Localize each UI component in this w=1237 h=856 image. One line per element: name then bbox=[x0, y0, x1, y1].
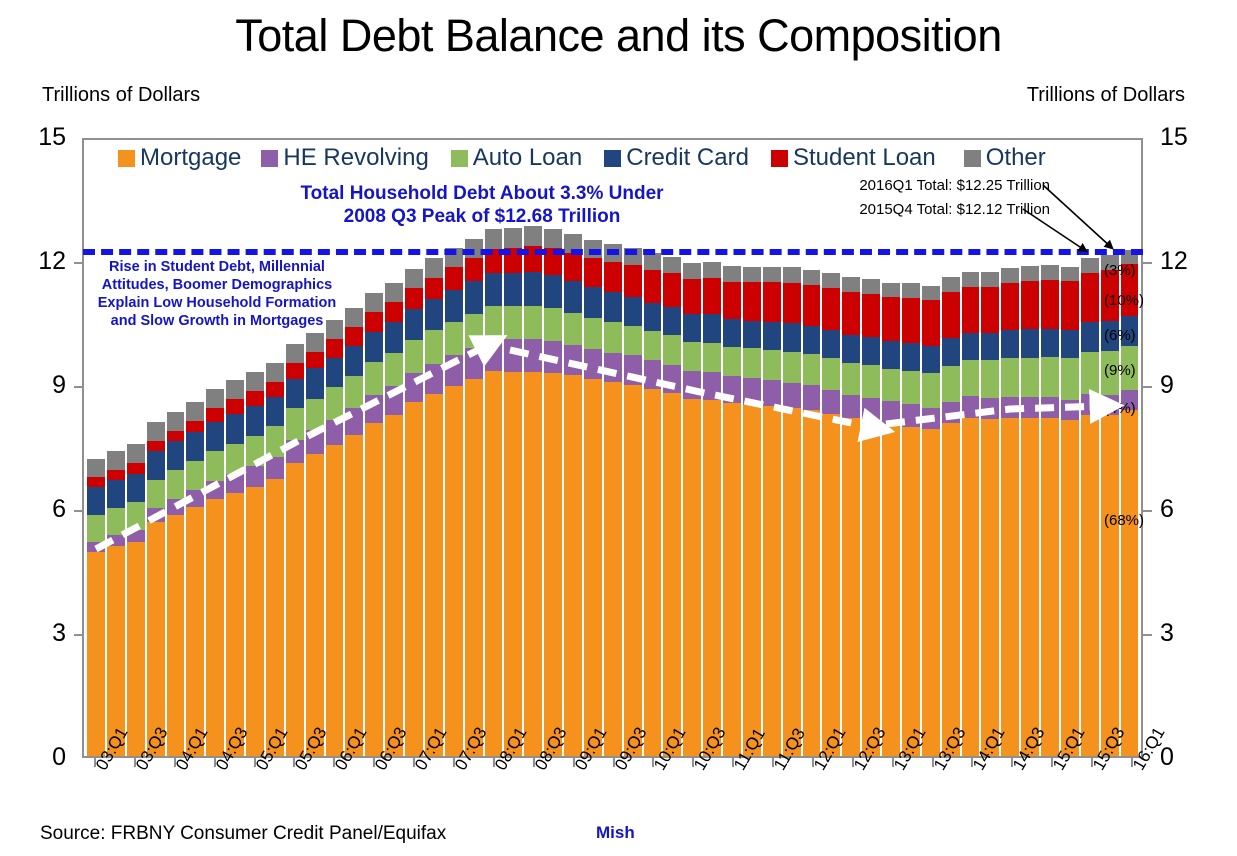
segment-student-loan bbox=[1081, 273, 1099, 323]
y-tick-right-9: 9 bbox=[1160, 373, 1210, 398]
y-tick-left-0: 0 bbox=[0, 745, 66, 770]
chart-legend: MortgageHE RevolvingAuto LoanCredit Card… bbox=[118, 144, 1046, 172]
segment-mortgage bbox=[485, 371, 503, 756]
y-tick-right-3: 3 bbox=[1160, 621, 1210, 646]
peak-reference-line bbox=[83, 249, 1143, 255]
segment-other bbox=[1081, 258, 1099, 273]
segment-other bbox=[1061, 267, 1079, 281]
bar-15-Q2 bbox=[1061, 140, 1079, 756]
segment-auto-loan bbox=[1021, 358, 1039, 398]
bar-09-Q4 bbox=[624, 140, 642, 756]
legend-swatch-icon bbox=[118, 150, 135, 167]
segment-mortgage bbox=[286, 463, 304, 756]
segment-mortgage bbox=[445, 386, 463, 756]
y-axis-unit-label-right: Trillions of Dollars bbox=[1027, 84, 1185, 107]
segment-he-revolving bbox=[465, 348, 483, 379]
segment-auto-loan bbox=[147, 480, 165, 509]
segment-other bbox=[822, 273, 840, 288]
segment-student-loan bbox=[226, 399, 244, 413]
y-axis-unit-label-left: Trillions of Dollars bbox=[42, 84, 200, 107]
segment-he-revolving bbox=[942, 402, 960, 423]
segment-student-loan bbox=[425, 278, 443, 299]
segment-credit-card bbox=[286, 379, 304, 408]
segment-student-loan bbox=[942, 292, 960, 338]
y-tick-left-15: 15 bbox=[0, 125, 66, 150]
y-tickmark-right-9 bbox=[1143, 386, 1152, 388]
segment-credit-card bbox=[803, 326, 821, 354]
segment-student-loan bbox=[1061, 281, 1079, 330]
bar-10-Q2 bbox=[663, 140, 681, 756]
segment-auto-loan bbox=[405, 340, 423, 373]
segment-mortgage bbox=[564, 375, 582, 756]
segment-auto-loan bbox=[1081, 352, 1099, 395]
segment-he-revolving bbox=[186, 490, 204, 507]
y-tick-left-12: 12 bbox=[0, 249, 66, 274]
segment-he-revolving bbox=[266, 457, 284, 479]
bar-10-Q4 bbox=[703, 140, 721, 756]
y-tickmark-right-12 bbox=[1143, 262, 1152, 264]
segment-mortgage bbox=[465, 379, 483, 756]
segment-auto-loan bbox=[1061, 358, 1079, 399]
segment-credit-card bbox=[504, 273, 522, 306]
bar-07-Q4 bbox=[465, 140, 483, 756]
segment-other bbox=[246, 372, 264, 391]
segment-credit-card bbox=[186, 432, 204, 461]
segment-student-loan bbox=[703, 278, 721, 314]
segment-auto-loan bbox=[644, 331, 662, 360]
segment-other bbox=[1001, 268, 1019, 282]
source-note: Source: FRBNY Consumer Credit Panel/Equi… bbox=[40, 823, 446, 845]
segment-other bbox=[783, 267, 801, 282]
segment-credit-card bbox=[584, 287, 602, 318]
segment-credit-card bbox=[385, 322, 403, 353]
segment-he-revolving bbox=[604, 353, 622, 382]
segment-he-revolving bbox=[1021, 397, 1039, 418]
segment-mortgage bbox=[1041, 418, 1059, 756]
y-tickmark-left-6 bbox=[74, 510, 83, 512]
segment-mortgage bbox=[246, 487, 264, 756]
segment-student-loan bbox=[1021, 281, 1039, 329]
bar-14-Q1 bbox=[962, 140, 980, 756]
segment-he-revolving bbox=[246, 466, 264, 487]
segment-mortgage bbox=[822, 414, 840, 756]
segment-credit-card bbox=[147, 451, 165, 480]
segment-auto-loan bbox=[167, 470, 185, 499]
bar-12-Q1 bbox=[803, 140, 821, 756]
segment-he-revolving bbox=[644, 360, 662, 389]
segment-he-revolving bbox=[127, 530, 145, 542]
segment-other bbox=[743, 267, 761, 283]
segment-student-loan bbox=[862, 294, 880, 338]
bar-03-Q2 bbox=[107, 140, 125, 756]
y-tickmark-left-3 bbox=[74, 634, 83, 636]
segment-credit-card bbox=[345, 346, 363, 376]
segment-mortgage bbox=[524, 372, 542, 756]
segment-mortgage bbox=[186, 507, 204, 756]
segment-other bbox=[286, 344, 304, 363]
segment-mortgage bbox=[87, 552, 105, 756]
segment-he-revolving bbox=[385, 386, 403, 415]
segment-auto-loan bbox=[266, 426, 284, 457]
segment-mortgage bbox=[1001, 418, 1019, 756]
legend-item-other[interactable]: Other bbox=[964, 144, 1046, 172]
segment-he-revolving bbox=[783, 383, 801, 409]
segment-mortgage bbox=[1061, 420, 1079, 756]
segment-auto-loan bbox=[524, 306, 542, 339]
bar-12-Q4 bbox=[862, 140, 880, 756]
legend-label: Other bbox=[986, 144, 1046, 172]
segment-credit-card bbox=[425, 299, 443, 330]
segment-other bbox=[644, 253, 662, 270]
segment-mortgage bbox=[1021, 418, 1039, 756]
y-tickmark-left-9 bbox=[74, 386, 83, 388]
segment-credit-card bbox=[1021, 329, 1039, 358]
segment-credit-card bbox=[246, 406, 264, 435]
page-title: Total Debt Balance and its Composition bbox=[0, 10, 1237, 62]
segment-auto-loan bbox=[842, 363, 860, 395]
segment-other bbox=[1041, 265, 1059, 279]
pct-label-he-revolving: (4%) bbox=[1104, 400, 1136, 417]
segment-auto-loan bbox=[326, 387, 344, 419]
segment-credit-card bbox=[743, 321, 761, 349]
segment-he-revolving bbox=[524, 339, 542, 372]
segment-student-loan bbox=[107, 470, 125, 480]
segment-auto-loan bbox=[385, 353, 403, 386]
segment-other bbox=[186, 402, 204, 421]
segment-student-loan bbox=[882, 297, 900, 341]
segment-mortgage bbox=[266, 479, 284, 756]
bar-06-Q1 bbox=[326, 140, 344, 756]
bar-07-Q3 bbox=[445, 140, 463, 756]
segment-student-loan bbox=[1041, 280, 1059, 329]
legend-item-student-loan[interactable]: Student Loan bbox=[771, 144, 936, 172]
segment-credit-card bbox=[107, 480, 125, 509]
segment-credit-card bbox=[1001, 330, 1019, 358]
callout-2015q4-total: 2015Q4 Total: $12.12 Trillion bbox=[760, 201, 1050, 218]
segment-auto-loan bbox=[544, 308, 562, 341]
peak-annotation-line-1: Total Household Debt About 3.3% Under bbox=[212, 182, 752, 205]
segment-mortgage bbox=[604, 382, 622, 756]
segment-mortgage bbox=[842, 418, 860, 756]
pct-label-mortgage: (68%) bbox=[1104, 512, 1144, 529]
segment-student-loan bbox=[922, 300, 940, 346]
segment-student-loan bbox=[365, 312, 383, 332]
segment-he-revolving bbox=[703, 372, 721, 400]
segment-he-revolving bbox=[206, 481, 224, 500]
segment-student-loan bbox=[663, 273, 681, 307]
bar-04-Q4 bbox=[226, 140, 244, 756]
segment-other bbox=[803, 270, 821, 285]
bar-07-Q1 bbox=[405, 140, 423, 756]
segment-credit-card bbox=[902, 343, 920, 371]
segment-auto-loan bbox=[226, 444, 244, 474]
bar-06-Q3 bbox=[365, 140, 383, 756]
segment-he-revolving bbox=[584, 349, 602, 378]
bar-11-Q3 bbox=[763, 140, 781, 756]
y-tickmark-right-6 bbox=[1143, 510, 1152, 512]
segment-credit-card bbox=[485, 273, 503, 306]
segment-student-loan bbox=[246, 391, 264, 406]
bar-08-Q1 bbox=[485, 140, 503, 756]
segment-other bbox=[683, 263, 701, 280]
y-tick-right-0: 0 bbox=[1160, 745, 1210, 770]
segment-student-loan bbox=[306, 352, 324, 368]
legend-swatch-icon bbox=[261, 150, 278, 167]
segment-credit-card bbox=[1061, 330, 1079, 358]
bar-04-Q3 bbox=[206, 140, 224, 756]
segment-mortgage bbox=[922, 429, 940, 756]
legend-swatch-icon bbox=[771, 150, 788, 167]
segment-other bbox=[385, 283, 403, 302]
segment-student-loan bbox=[206, 408, 224, 422]
segment-he-revolving bbox=[981, 398, 999, 419]
segment-credit-card bbox=[882, 341, 900, 368]
segment-other bbox=[266, 363, 284, 382]
segment-mortgage bbox=[1081, 415, 1099, 756]
segment-other bbox=[504, 228, 522, 248]
segment-credit-card bbox=[942, 338, 960, 366]
bar-10-Q1 bbox=[644, 140, 662, 756]
segment-student-loan bbox=[87, 477, 105, 487]
legend-item-credit-card[interactable]: Credit Card bbox=[604, 144, 749, 172]
segment-auto-loan bbox=[365, 362, 383, 395]
segment-student-loan bbox=[1001, 283, 1019, 331]
y-tick-left-3: 3 bbox=[0, 621, 66, 646]
bar-05-Q2 bbox=[266, 140, 284, 756]
segment-he-revolving bbox=[922, 408, 940, 430]
segment-other bbox=[425, 258, 443, 277]
segment-other bbox=[842, 277, 860, 291]
segment-credit-card bbox=[842, 335, 860, 363]
segment-he-revolving bbox=[962, 396, 980, 418]
segment-credit-card bbox=[87, 487, 105, 516]
segment-student-loan bbox=[604, 262, 622, 293]
bar-13-Q3 bbox=[922, 140, 940, 756]
segment-auto-loan bbox=[683, 342, 701, 371]
segment-other bbox=[882, 283, 900, 297]
segment-auto-loan bbox=[723, 347, 741, 376]
segment-he-revolving bbox=[842, 395, 860, 419]
segment-auto-loan bbox=[485, 306, 503, 339]
segment-other bbox=[167, 412, 185, 431]
segment-auto-loan bbox=[564, 313, 582, 345]
segment-credit-card bbox=[644, 303, 662, 332]
segment-student-loan bbox=[127, 463, 145, 473]
segment-student-loan bbox=[564, 253, 582, 281]
legend-swatch-icon bbox=[964, 150, 981, 167]
segment-student-loan bbox=[624, 265, 642, 297]
bar-11-Q2 bbox=[743, 140, 761, 756]
y-tickmark-right-3 bbox=[1143, 634, 1152, 636]
segment-he-revolving bbox=[1041, 397, 1059, 418]
segment-he-revolving bbox=[683, 371, 701, 399]
segment-he-revolving bbox=[1081, 394, 1099, 414]
bar-09-Q2 bbox=[584, 140, 602, 756]
legend-label: Auto Loan bbox=[473, 144, 582, 172]
bar-14-Q4 bbox=[1021, 140, 1039, 756]
segment-auto-loan bbox=[465, 314, 483, 347]
segment-he-revolving bbox=[822, 390, 840, 414]
rise-annotation-line-1: Rise in Student Debt, Millennial bbox=[82, 258, 352, 276]
legend-swatch-icon bbox=[451, 150, 468, 167]
legend-item-auto-loan[interactable]: Auto Loan bbox=[451, 144, 582, 172]
segment-student-loan bbox=[743, 282, 761, 320]
bar-12-Q2 bbox=[822, 140, 840, 756]
segment-mortgage bbox=[405, 402, 423, 756]
segment-he-revolving bbox=[107, 535, 125, 546]
segment-mortgage bbox=[763, 406, 781, 756]
segment-other bbox=[127, 444, 145, 463]
segment-he-revolving bbox=[544, 341, 562, 373]
segment-credit-card bbox=[564, 281, 582, 313]
segment-credit-card bbox=[524, 272, 542, 305]
segment-credit-card bbox=[624, 297, 642, 326]
segment-mortgage bbox=[147, 522, 165, 756]
bar-06-Q2 bbox=[345, 140, 363, 756]
segment-he-revolving bbox=[862, 398, 880, 421]
segment-mortgage bbox=[743, 405, 761, 756]
segment-auto-loan bbox=[584, 318, 602, 349]
segment-mortgage bbox=[683, 399, 701, 756]
segment-student-loan bbox=[385, 302, 403, 322]
segment-mortgage bbox=[504, 372, 522, 756]
segment-he-revolving bbox=[803, 385, 821, 410]
segment-credit-card bbox=[306, 368, 324, 398]
chart-plot-area bbox=[82, 138, 1143, 758]
segment-student-loan bbox=[405, 288, 423, 309]
segment-credit-card bbox=[1081, 322, 1099, 351]
segment-student-loan bbox=[644, 270, 662, 303]
segment-he-revolving bbox=[663, 365, 681, 393]
bar-12-Q3 bbox=[842, 140, 860, 756]
bar-03-Q3 bbox=[127, 140, 145, 756]
segment-auto-loan bbox=[345, 376, 363, 409]
legend-item-mortgage[interactable]: Mortgage bbox=[118, 144, 241, 172]
segment-he-revolving bbox=[504, 339, 522, 371]
segment-he-revolving bbox=[1061, 400, 1079, 421]
bar-13-Q2 bbox=[902, 140, 920, 756]
segment-he-revolving bbox=[286, 440, 304, 463]
segment-other bbox=[87, 459, 105, 477]
segment-he-revolving bbox=[882, 401, 900, 424]
segment-mortgage bbox=[902, 427, 920, 756]
bar-05-Q1 bbox=[246, 140, 264, 756]
segment-mortgage bbox=[962, 418, 980, 756]
segment-other bbox=[1021, 266, 1039, 281]
segment-auto-loan bbox=[1041, 357, 1059, 397]
bar-05-Q3 bbox=[286, 140, 304, 756]
segment-auto-loan bbox=[922, 373, 940, 407]
segment-auto-loan bbox=[942, 366, 960, 402]
segment-he-revolving bbox=[87, 542, 105, 552]
bar-05-Q4 bbox=[306, 140, 324, 756]
segment-he-revolving bbox=[167, 499, 185, 514]
segment-credit-card bbox=[962, 333, 980, 360]
segment-credit-card bbox=[822, 330, 840, 358]
y-tick-right-12: 12 bbox=[1160, 249, 1210, 274]
segment-auto-loan bbox=[425, 330, 443, 363]
segment-other bbox=[365, 293, 383, 312]
segment-auto-loan bbox=[882, 369, 900, 402]
segment-mortgage bbox=[862, 421, 880, 756]
segment-auto-loan bbox=[902, 371, 920, 404]
segment-credit-card bbox=[266, 397, 284, 426]
segment-mortgage bbox=[624, 385, 642, 756]
segment-student-loan bbox=[842, 292, 860, 335]
segment-he-revolving bbox=[743, 378, 761, 404]
segment-auto-loan bbox=[127, 502, 145, 530]
segment-student-loan bbox=[763, 282, 781, 322]
segment-auto-loan bbox=[663, 335, 681, 364]
segment-auto-loan bbox=[107, 508, 125, 535]
segment-credit-card bbox=[226, 414, 244, 444]
segment-other bbox=[663, 257, 681, 274]
bar-14-Q2 bbox=[981, 140, 999, 756]
segment-mortgage bbox=[663, 393, 681, 756]
bar-15-Q4 bbox=[1101, 140, 1119, 756]
legend-item-he-revolving[interactable]: HE Revolving bbox=[261, 144, 428, 172]
segment-mortgage bbox=[803, 410, 821, 756]
segment-mortgage bbox=[167, 515, 185, 756]
segment-he-revolving bbox=[445, 355, 463, 386]
segment-other bbox=[723, 266, 741, 282]
segment-other bbox=[147, 422, 165, 441]
segment-other bbox=[962, 272, 980, 286]
bar-13-Q4 bbox=[942, 140, 960, 756]
segment-mortgage bbox=[385, 415, 403, 756]
segment-he-revolving bbox=[306, 430, 324, 454]
segment-student-loan bbox=[783, 283, 801, 324]
bar-09-Q3 bbox=[604, 140, 622, 756]
segment-mortgage bbox=[127, 542, 145, 756]
segment-credit-card bbox=[604, 292, 622, 322]
segment-he-revolving bbox=[405, 373, 423, 402]
segment-other bbox=[206, 389, 224, 408]
segment-auto-loan bbox=[624, 326, 642, 356]
segment-credit-card bbox=[465, 281, 483, 314]
segment-he-revolving bbox=[763, 380, 781, 406]
segment-mortgage bbox=[326, 445, 344, 756]
bar-03-Q1 bbox=[87, 140, 105, 756]
segment-auto-loan bbox=[286, 408, 304, 439]
segment-credit-card bbox=[783, 323, 801, 352]
segment-other bbox=[981, 272, 999, 286]
segment-credit-card bbox=[862, 337, 880, 365]
segment-mortgage bbox=[942, 423, 960, 756]
segment-credit-card bbox=[683, 314, 701, 342]
segment-he-revolving bbox=[326, 420, 344, 445]
segment-he-revolving bbox=[1001, 397, 1019, 418]
segment-auto-loan bbox=[445, 322, 463, 356]
legend-label: Student Loan bbox=[793, 144, 936, 172]
segment-mortgage bbox=[703, 400, 721, 756]
bar-07-Q2 bbox=[425, 140, 443, 756]
segment-student-loan bbox=[326, 339, 344, 358]
segment-credit-card bbox=[445, 290, 463, 322]
segment-credit-card bbox=[703, 314, 721, 343]
stacked-bar-series bbox=[84, 140, 1141, 756]
peak-annotation-line-2: 2008 Q3 Peak of $12.68 Trillion bbox=[212, 205, 752, 228]
segment-auto-loan bbox=[962, 360, 980, 396]
segment-other bbox=[922, 286, 940, 300]
segment-student-loan bbox=[981, 287, 999, 334]
segment-other bbox=[306, 333, 324, 352]
segment-mortgage bbox=[783, 408, 801, 756]
bar-04-Q1 bbox=[167, 140, 185, 756]
segment-auto-loan bbox=[87, 515, 105, 541]
segment-student-loan bbox=[584, 258, 602, 287]
segment-credit-card bbox=[326, 358, 344, 387]
